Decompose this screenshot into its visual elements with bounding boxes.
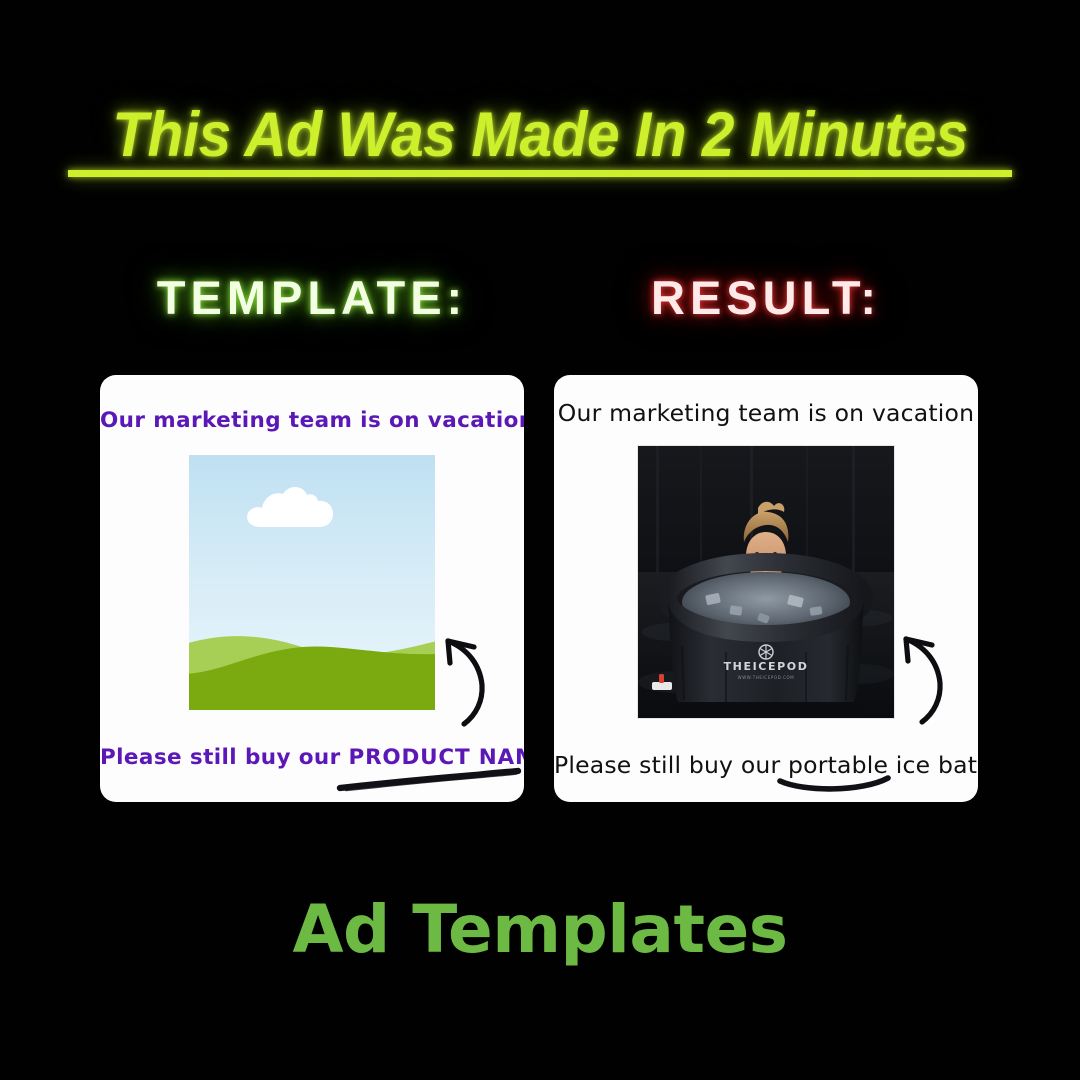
result-card-top-text: Our marketing team is on vacation bbox=[554, 402, 978, 426]
result-card-bottom-text: Please still buy our portable ice bath bbox=[554, 754, 978, 778]
template-card-bottom-text: Please still buy our PRODUCT NAME bbox=[100, 747, 524, 769]
svg-text:THEICEPOD: THEICEPOD bbox=[724, 660, 809, 673]
ice-bath-photo-illustration: THEICEPOD WWW.THEICEPOD.COM bbox=[638, 446, 894, 718]
hill-front-shape bbox=[189, 632, 435, 710]
column-label-result: RESULT: bbox=[554, 274, 978, 321]
ad-canvas: This Ad Was Made In 2 Minutes TEMPLATE: … bbox=[0, 0, 1080, 1080]
result-bottom-prefix: Please still buy our bbox=[554, 751, 788, 779]
curved-arrow-icon bbox=[436, 627, 502, 731]
result-product-photo: THEICEPOD WWW.THEICEPOD.COM bbox=[638, 446, 894, 718]
curved-arrow-icon bbox=[894, 625, 960, 729]
hand-drawn-underline-stroke bbox=[776, 775, 892, 795]
column-label-template: TEMPLATE: bbox=[100, 274, 524, 321]
page-title: This Ad Was Made In 2 Minutes bbox=[108, 104, 971, 173]
headline-block: This Ad Was Made In 2 Minutes bbox=[0, 104, 1080, 173]
svg-text:WWW.THEICEPOD.COM: WWW.THEICEPOD.COM bbox=[738, 675, 795, 680]
cloud-icon bbox=[241, 477, 341, 529]
footer-brand: Ad Templates bbox=[0, 897, 1080, 963]
result-card[interactable]: Our marketing team is on vacation bbox=[554, 375, 978, 802]
hand-drawn-underline-stroke bbox=[336, 767, 522, 793]
placeholder-landscape-artwork bbox=[189, 455, 435, 710]
template-card-top-text: Our marketing team is on vacation bbox=[100, 410, 524, 432]
template-card[interactable]: Our marketing team is on vacation Please… bbox=[100, 375, 524, 802]
headline-underline-bar bbox=[68, 170, 1012, 177]
template-bottom-prefix: Please still buy our bbox=[100, 745, 349, 770]
result-bottom-suffix: ice bath bbox=[888, 751, 978, 779]
